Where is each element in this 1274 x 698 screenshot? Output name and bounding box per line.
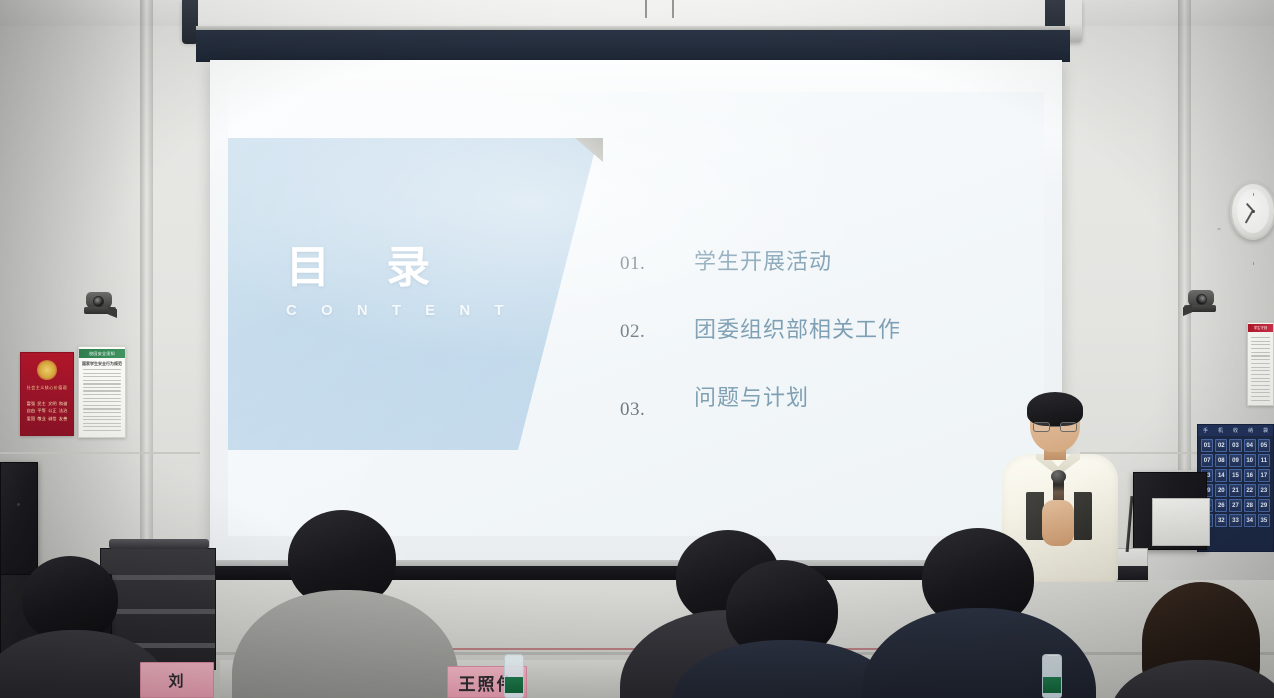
poster-notice-green: 校园安全须知 国家学生安全行为规范 [78,346,126,438]
poster-core-values: 社会主义核心价值观 富强 民主 文明 和谐 自由 平等 公正 法治 爱国 敬业 … [20,352,74,436]
wall-pillar-left [140,0,153,560]
screen-top-border [196,30,1070,62]
header-char: 袋 [1263,427,1268,434]
value-word: 文明 [48,401,58,406]
pocket-slot[interactable]: 05 [1258,439,1270,452]
ptz-camera-icon-left [82,290,118,320]
header-char: 机 [1218,427,1223,434]
ptz-camera-icon-right [1182,288,1218,318]
poster-header: 学生守则 [1248,324,1273,332]
poster-text-lines [83,369,121,433]
wall-seam-left [0,452,200,454]
pocket-slot[interactable]: 04 [1244,439,1256,452]
value-word: 和谐 [58,401,68,406]
camera-lens [1196,294,1207,305]
poster-notice-right: 学生守则 [1247,322,1274,406]
pocket-slot[interactable]: 22 [1244,484,1256,497]
pocket-slot[interactable]: 20 [1215,484,1227,497]
value-word: 富强 [26,401,36,406]
glasses-icon [1033,422,1077,432]
pocket-slot[interactable]: 10 [1244,454,1256,467]
pocket-slot[interactable]: 34 [1244,514,1256,527]
pocket-slot[interactable]: 14 [1215,469,1227,482]
header-char: 纳 [1248,427,1253,434]
pocket-slot[interactable]: 01 [1201,439,1213,452]
wall-clock [1230,182,1274,242]
slide-title: 目 录 [286,246,536,290]
pocket-slot[interactable]: 07 [1201,454,1213,467]
clock-tick [1253,262,1254,265]
pocket-slot[interactable]: 17 [1258,469,1270,482]
camera-lens [93,296,104,307]
value-word: 友善 [58,416,68,421]
speaker-left [0,462,38,580]
pocket-chart-header: 手 机 收 纳 袋 [1198,425,1273,436]
agenda-number: 02. [620,321,694,343]
poster-title: 国家学生安全行为规范 [79,361,125,367]
value-word: 敬业 [37,416,47,421]
agenda-item[interactable]: 02. 团委组织部相关工作 [620,312,1040,344]
value-word: 诚信 [48,416,58,421]
pocket-slot[interactable]: 09 [1229,454,1241,467]
pocket-slot[interactable]: 11 [1258,454,1270,467]
pocket-slot[interactable]: 08 [1215,454,1227,467]
water-bottle [504,654,524,698]
wall-pillar-right [1178,0,1191,470]
agenda-item[interactable]: 01. 学生开展活动 [620,244,1040,276]
pocket-slot[interactable]: 23 [1258,484,1270,497]
clock-face [1237,189,1269,233]
microphone-head [1051,470,1066,483]
value-word: 自由 [26,408,36,413]
presenter-hands [1042,500,1074,546]
presenter-hair [1027,392,1083,426]
cart-handle[interactable] [109,539,209,549]
poster-text-lines [1251,337,1270,403]
slide-subtitle: C O N T E N T [286,302,536,319]
projection-screen[interactable]: 目 录 C O N T E N T 01. 学生开展活动 02. 团委组织部相关… [210,60,1062,568]
header-char: 收 [1233,427,1238,434]
pocket-slot[interactable]: 16 [1244,469,1256,482]
pocket-slot[interactable]: 32 [1215,514,1227,527]
emblem-icon [37,360,57,380]
clock-tick [1218,228,1221,229]
bottle-cap [509,654,521,656]
bottle-label [505,677,523,693]
av-control-panel[interactable] [1152,498,1210,546]
bottle-cap [1047,654,1059,656]
clock-tick [1253,193,1254,196]
agenda-label: 团委组织部相关工作 [694,312,901,344]
classroom-photo-scene: 目 录 C O N T E N T 01. 学生开展活动 02. 团委组织部相关… [0,0,1274,698]
value-word: 平等 [37,408,47,413]
poster-title: 社会主义核心价值观 [21,385,73,391]
value-word: 民主 [37,401,47,406]
screen-hook-left [645,0,647,18]
agenda-label: 问题与计划 [694,380,809,412]
screen-hook-right [672,0,674,18]
core-values-grid: 富强 民主 文明 和谐 自由 平等 公正 法治 爱国 敬业 诚信 友善 [26,401,68,421]
pocket-slot[interactable]: 02 [1215,439,1227,452]
clock-bezel [1230,182,1274,240]
presentation-slide: 目 录 C O N T E N T 01. 学生开展活动 02. 团委组织部相关… [228,92,1044,536]
pocket-slot[interactable]: 28 [1244,499,1256,512]
poster-header: 校园安全须知 [79,349,125,358]
bottle-label [1043,677,1061,693]
header-char: 手 [1203,427,1208,434]
pocket-slot[interactable]: 21 [1229,484,1241,497]
pocket-slot[interactable]: 33 [1229,514,1241,527]
value-word: 公正 [48,408,58,413]
pocket-slot[interactable]: 29 [1258,499,1270,512]
nameplate-left: 刘 [140,662,214,698]
agenda-list: 01. 学生开展活动 02. 团委组织部相关工作 03. 问题与计划 [620,244,1040,448]
slide-title-block: 目 录 C O N T E N T [286,246,536,319]
water-bottle [1042,654,1062,698]
clock-center-pin [1252,210,1255,213]
agenda-item[interactable]: 03. 问题与计划 [620,380,1040,412]
pocket-slot[interactable]: 35 [1258,514,1270,527]
pocket-slot[interactable]: 03 [1229,439,1241,452]
clock-minute-hand [1245,211,1253,224]
agenda-number: 01. [620,253,694,275]
agenda-label: 学生开展活动 [694,244,832,276]
pocket-slot[interactable]: 15 [1229,469,1241,482]
pocket-slot[interactable]: 27 [1229,499,1241,512]
value-word: 爱国 [26,416,36,421]
pocket-slot[interactable]: 26 [1215,499,1227,512]
agenda-number: 03. [620,399,694,421]
value-word: 法治 [58,408,68,413]
